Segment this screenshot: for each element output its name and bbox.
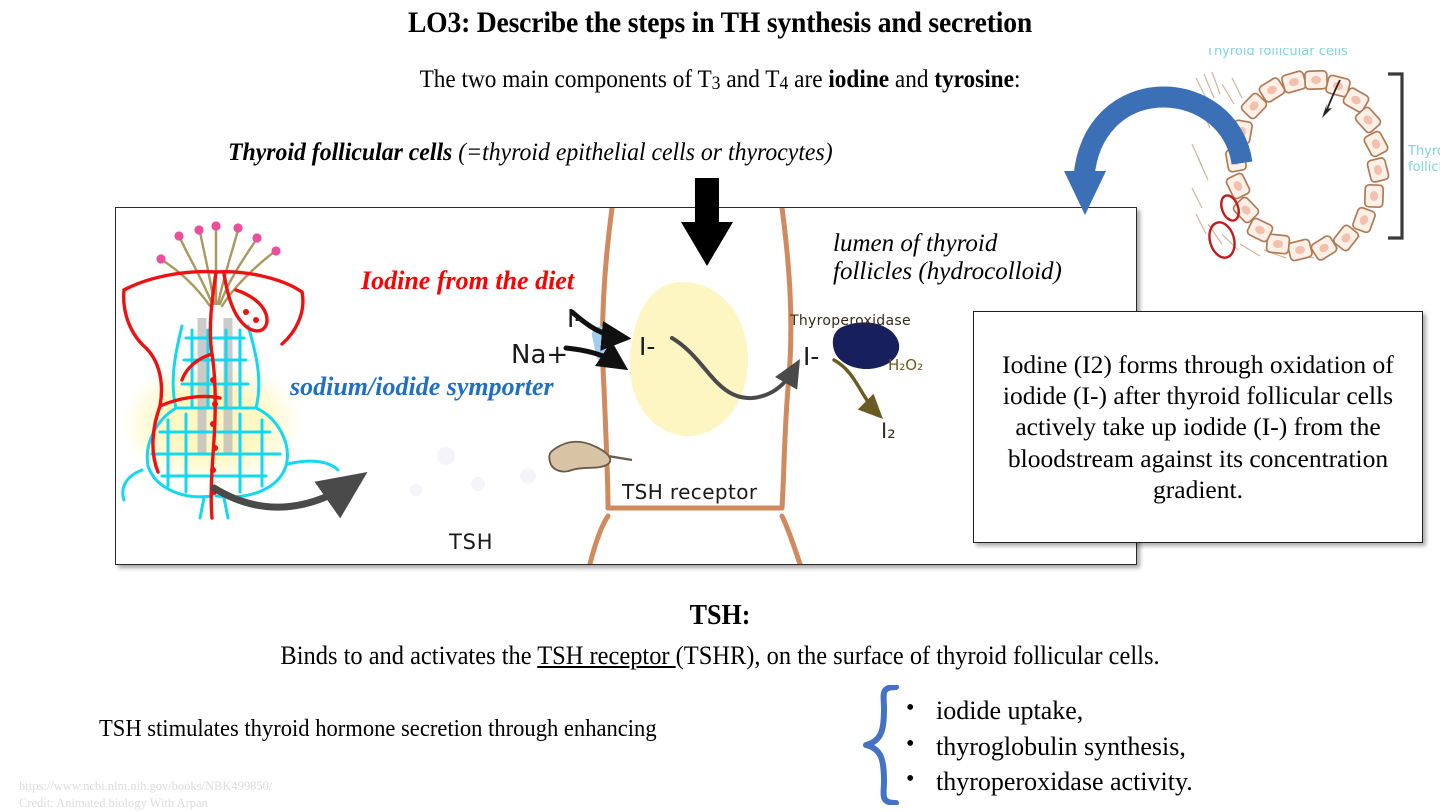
label-thyroid-follicular-cells: Thyroid follicular cells (1206, 48, 1348, 59)
label-hydrogen-peroxide: H₂O₂ (888, 356, 923, 374)
curly-brace-icon (862, 685, 902, 805)
blue-curved-arrow-icon (1060, 85, 1260, 275)
credits-attribution: Credit: Animated biology With Arpan (19, 795, 272, 812)
tsh-flow-arrow (214, 480, 356, 507)
tsh-binds-line: Binds to and activates the TSH receptor … (43, 641, 1397, 671)
subtitle-part4: and (889, 66, 934, 93)
iodine-explanation-callout: Iodine (I2) forms through oxidation of i… (973, 311, 1423, 543)
subtitle-sub-3: 3 (712, 73, 721, 94)
subtitle-part1: The two main components of T (420, 66, 712, 93)
subtitle-bold-iodine: iodine (828, 66, 889, 93)
black-down-arrow-icon (681, 178, 733, 270)
label-thyroid-follicle: Thyroid follicle (1408, 144, 1440, 177)
tsh-receptor-icon (549, 442, 632, 472)
follicle-label-line1: Thyroid (1408, 144, 1440, 159)
label-tsh-receptor: TSH receptor (622, 480, 758, 504)
list-item: iodide uptake, (900, 693, 1193, 729)
binds-part2: (TSHR), on the surface of thyroid follic… (676, 641, 1160, 670)
lumen-line-1: lumen of thyroid (833, 230, 997, 257)
subtitle-part2: and T (721, 66, 780, 93)
label-iodide-intracellular: I- (639, 332, 655, 361)
label-iodine-molecule: I₂ (881, 419, 896, 443)
lumen-line-2: follicles (hydrocolloid) (833, 258, 1062, 285)
follicular-cells-normal: (=thyroid epithelial cells or thyrocytes… (452, 139, 832, 166)
credits-url: https://www.ncbi.nlm.nih.gov/books/NBK49… (19, 778, 272, 795)
tsh-stimulates-line: TSH stimulates thyroid hormone secretion… (99, 716, 657, 743)
tsh-effects-list: iodide uptake, thyroglobulin synthesis, … (900, 693, 1193, 800)
label-thyroperoxidase: Thyroperoxidase (790, 313, 911, 329)
page-title: LO3: Describe the steps in TH synthesis … (58, 6, 1383, 40)
list-item: thyroperoxidase activity. (900, 764, 1193, 800)
label-iodine-from-diet: Iodine from the diet (361, 266, 574, 296)
binds-underlined-tsh-receptor: TSH receptor (537, 641, 675, 670)
label-lumen-of-thyroid-follicles: lumen of thyroid follicles (hydrocolloid… (833, 230, 1062, 286)
label-iodide-lumen: I- (803, 342, 819, 371)
slide-root: LO3: Describe the steps in TH synthesis … (0, 0, 1440, 810)
follicle-label-line2: follicle (1408, 160, 1440, 175)
binds-part1: Binds to and activates the (280, 641, 537, 670)
subtitle-bold-tyrosine: tyrosine (934, 66, 1014, 93)
label-iodide-extracellular: I- (567, 304, 583, 333)
follicular-cells-line: Thyroid follicular cells (=thyroid epith… (228, 139, 833, 167)
label-sodium-iodide-symporter: sodium/iodide symporter (290, 372, 554, 402)
thyroid-gland-illustration (120, 221, 338, 518)
follicular-cells-bold: Thyroid follicular cells (228, 139, 452, 166)
subtitle-part5: : (1014, 66, 1020, 93)
follicle-bracket (1388, 74, 1402, 238)
tsh-section-heading: TSH: (50, 600, 1389, 632)
callout-text: Iodine (I2) forms through oxidation of i… (988, 349, 1408, 505)
subtitle-part3: are (788, 66, 828, 93)
label-tsh: TSH (449, 530, 493, 554)
list-item: thyroglobulin synthesis, (900, 729, 1193, 765)
credits-block: https://www.ncbi.nlm.nih.gov/books/NBK49… (19, 778, 272, 812)
label-sodium-ion: Na+ (511, 340, 568, 370)
